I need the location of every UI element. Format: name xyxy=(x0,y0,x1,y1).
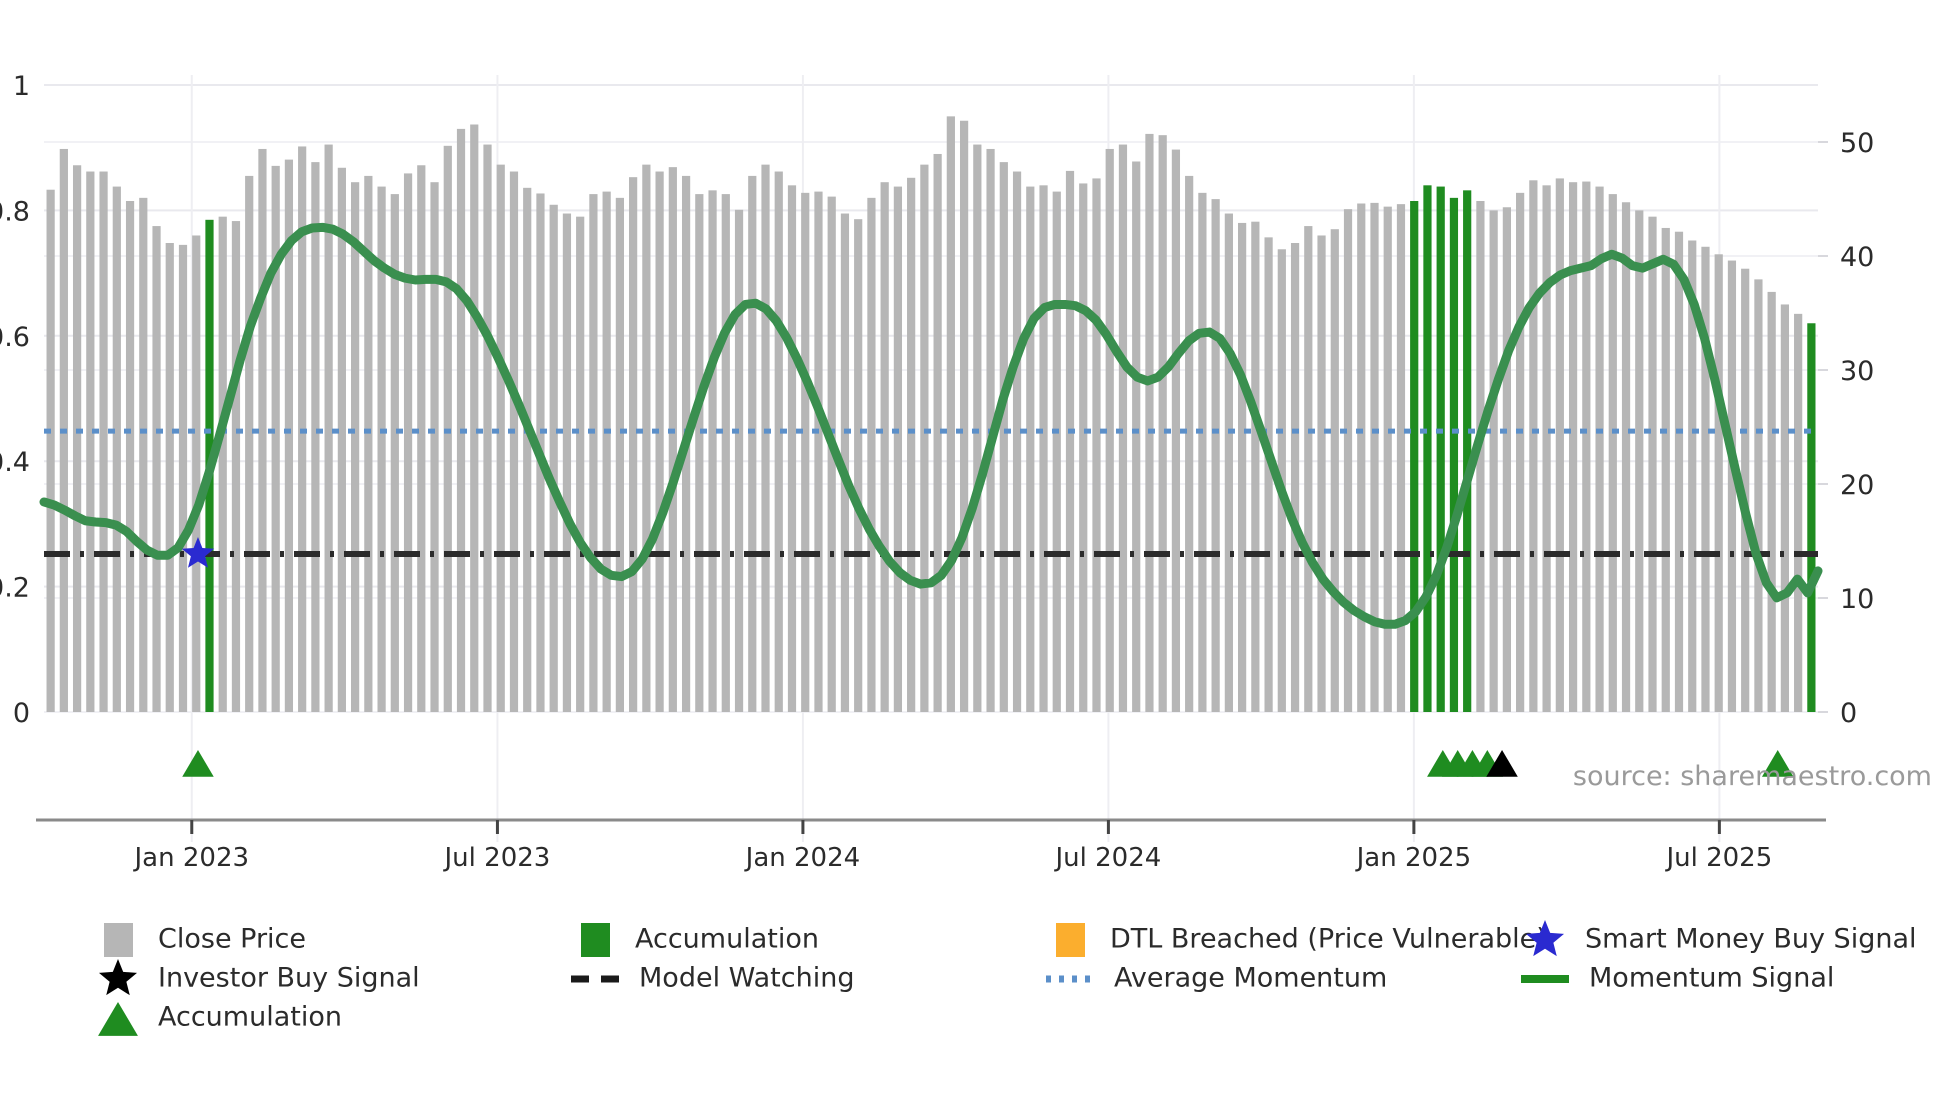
accumulation-bar xyxy=(1410,201,1418,712)
legend-item[interactable]: Model Watching xyxy=(571,963,854,994)
close-price-bar xyxy=(603,192,611,712)
y-axis-left-label: 0.6 xyxy=(0,322,30,353)
close-price-bar xyxy=(722,194,730,712)
close-price-bar xyxy=(166,243,174,712)
close-price-bar xyxy=(814,192,822,712)
close-price-bar xyxy=(1039,185,1047,712)
close-price-bar xyxy=(1132,161,1140,712)
accumulation-bar xyxy=(1450,198,1458,712)
close-price-bar xyxy=(576,217,584,712)
close-price-bar xyxy=(483,145,491,712)
close-price-bar xyxy=(801,193,809,712)
y-axis-left-label: 0.8 xyxy=(0,196,30,227)
y-axis-left-label: 1 xyxy=(13,71,30,102)
close-price-bar xyxy=(351,182,359,712)
close-price-bar xyxy=(947,116,955,712)
close-price-bar xyxy=(1357,204,1365,713)
legend-item-label: Investor Buy Signal xyxy=(158,963,420,994)
close-price-bar xyxy=(907,178,915,712)
close-price-bar xyxy=(1569,182,1577,712)
close-price-bar xyxy=(656,172,664,712)
accumulation-triangle-marker xyxy=(182,750,214,777)
close-price-bar xyxy=(1582,182,1590,712)
close-price-bar xyxy=(523,188,531,712)
close-price-bar xyxy=(735,210,743,712)
close-price-bar xyxy=(788,185,796,712)
close-price-bar xyxy=(99,172,107,712)
close-price-bar xyxy=(1662,228,1670,712)
close-price-bar xyxy=(430,182,438,712)
close-price-bar xyxy=(1556,178,1564,712)
close-price-bar xyxy=(1079,183,1087,712)
close-price-bar xyxy=(1026,187,1034,712)
legend-item[interactable]: DTL Breached (Price Vulnerable) xyxy=(1056,923,1547,957)
close-price-bar xyxy=(1304,226,1312,712)
y-axis-left-label: 0.2 xyxy=(0,573,30,604)
y-axis-right-label: 30 xyxy=(1840,356,1874,387)
close-price-bar xyxy=(1185,176,1193,712)
y-axis-right-label: 20 xyxy=(1840,470,1874,501)
y-axis-left-label: 0 xyxy=(13,698,30,729)
close-price-bar xyxy=(748,176,756,712)
close-price-bar xyxy=(1635,210,1643,712)
legend-item-label: Close Price xyxy=(158,924,306,955)
close-price-bar xyxy=(1529,180,1537,712)
close-price-bar xyxy=(311,162,319,712)
x-axis-tick-label: Jul 2024 xyxy=(1053,843,1161,873)
close-price-bar xyxy=(1225,214,1233,712)
source-attribution: source: sharemaestro.com xyxy=(1573,761,1932,792)
close-price-bar xyxy=(126,201,134,712)
close-price-bar xyxy=(1092,178,1100,712)
legend-item-label: Momentum Signal xyxy=(1589,963,1834,994)
close-price-bars-group xyxy=(47,116,1816,712)
close-price-bar xyxy=(642,165,650,712)
close-price-bar xyxy=(1013,172,1021,712)
close-price-bar xyxy=(775,172,783,712)
close-price-bar xyxy=(616,198,624,712)
accumulation-bar xyxy=(1463,190,1471,712)
y-axis-right-label: 10 xyxy=(1840,584,1874,615)
legend-square-icon xyxy=(1056,923,1085,957)
accumulation-bar xyxy=(1807,323,1815,712)
close-price-bar xyxy=(761,165,769,712)
legend-item[interactable]: Accumulation xyxy=(581,923,819,957)
x-axis-tick-label: Jul 2023 xyxy=(443,843,551,873)
legend-item[interactable]: Accumulation xyxy=(98,1002,342,1036)
close-price-bar xyxy=(86,172,94,712)
close-price-bar xyxy=(258,149,266,712)
y-axis-right-label: 0 xyxy=(1840,698,1857,729)
close-price-bar xyxy=(1344,209,1352,712)
legend-triangle-icon xyxy=(98,1002,138,1036)
close-price-bar xyxy=(960,121,968,712)
close-price-bar xyxy=(1754,279,1762,712)
close-price-bar xyxy=(1397,204,1405,712)
momentum-accumulation-chart: Jan 2023Jul 2023Jan 2024Jul 2024Jan 2025… xyxy=(0,0,1960,1102)
accumulation-bar xyxy=(1423,185,1431,712)
legend-item[interactable]: Average Momentum xyxy=(1046,963,1387,994)
close-price-bar xyxy=(338,168,346,712)
close-price-bar xyxy=(1715,254,1723,712)
close-price-bar xyxy=(1119,145,1127,712)
close-price-bar xyxy=(1198,193,1206,712)
legend-star-icon xyxy=(99,959,137,995)
close-price-bar xyxy=(192,235,200,712)
close-price-bar xyxy=(854,219,862,712)
close-price-bar xyxy=(1066,171,1074,712)
close-price-bar xyxy=(695,194,703,712)
reference-lines-group xyxy=(44,431,1818,554)
legend-item-label: Accumulation xyxy=(635,924,819,955)
close-price-bar xyxy=(272,166,280,712)
close-price-bar xyxy=(1053,192,1061,712)
close-price-bar xyxy=(708,190,716,712)
close-price-bar xyxy=(417,165,425,712)
legend-item-label: DTL Breached (Price Vulnerable) xyxy=(1110,924,1547,955)
close-price-bar xyxy=(1251,222,1259,712)
momentum-signal-line xyxy=(44,227,1818,624)
legend-item-label: Accumulation xyxy=(158,1002,342,1033)
close-price-bar xyxy=(1000,162,1008,712)
close-price-bar xyxy=(1291,243,1299,712)
legend-item[interactable]: Close Price xyxy=(104,923,306,957)
accumulation-bar xyxy=(1437,187,1445,712)
close-price-bar xyxy=(1543,185,1551,712)
close-price-bar xyxy=(232,221,240,712)
close-price-bar xyxy=(1172,150,1180,712)
legend-item-label: Model Watching xyxy=(639,963,854,994)
close-price-bar xyxy=(1622,202,1630,712)
close-price-bar xyxy=(894,187,902,712)
close-price-bar xyxy=(1238,223,1246,712)
close-price-bar xyxy=(1503,207,1511,712)
close-price-bar xyxy=(1781,304,1789,712)
momentum-line-group xyxy=(44,227,1818,624)
legend-item-label: Average Momentum xyxy=(1114,963,1387,994)
legend-square-icon xyxy=(104,923,133,957)
close-price-bar xyxy=(1384,207,1392,712)
legend-item-label: Smart Money Buy Signal xyxy=(1585,924,1917,955)
legend-item[interactable]: Smart Money Buy Signal xyxy=(1526,920,1917,956)
close-price-bar xyxy=(245,176,253,712)
close-price-bar xyxy=(152,226,160,712)
x-axis-tick-label: Jan 2023 xyxy=(133,843,250,873)
gridlines-group xyxy=(44,75,1818,842)
x-axis-tick-label: Jan 2025 xyxy=(1355,843,1472,873)
close-price-bar xyxy=(1794,314,1802,712)
legend-item[interactable]: Investor Buy Signal xyxy=(99,959,420,995)
close-price-bar xyxy=(563,214,571,712)
close-price-bar xyxy=(1331,229,1339,712)
legend-item[interactable]: Momentum Signal xyxy=(1521,963,1834,994)
close-price-bar xyxy=(179,245,187,712)
close-price-bar xyxy=(1609,194,1617,712)
close-price-bar xyxy=(881,182,889,712)
close-price-bar xyxy=(47,190,55,712)
chart-svg-canvas: Jan 2023Jul 2023Jan 2024Jul 2024Jan 2025… xyxy=(0,0,1960,1102)
close-price-bar xyxy=(219,217,227,712)
close-price-bar xyxy=(1648,217,1656,712)
close-price-bar xyxy=(1317,235,1325,712)
close-price-bar xyxy=(550,205,558,712)
close-price-bar xyxy=(1516,193,1524,712)
close-price-bar xyxy=(1490,210,1498,712)
close-price-bar xyxy=(457,129,465,712)
close-price-bar xyxy=(867,198,875,712)
close-price-bar xyxy=(920,165,928,712)
close-price-bar xyxy=(1768,292,1776,712)
legend-group: Close PriceAccumulationDTL Breached (Pri… xyxy=(98,920,1916,1036)
close-price-bar xyxy=(973,145,981,712)
legend-square-icon xyxy=(581,923,610,957)
y-axis-right-label: 40 xyxy=(1840,242,1874,273)
close-price-bar xyxy=(1675,232,1683,712)
y-axis-right-label: 50 xyxy=(1840,128,1874,159)
y-axis-left-label: 0.4 xyxy=(0,447,30,478)
close-price-bar xyxy=(669,167,677,712)
close-price-bar xyxy=(1145,134,1153,712)
x-axis-tick-label: Jan 2024 xyxy=(744,843,861,873)
close-price-bar xyxy=(589,194,597,712)
close-price-bar xyxy=(73,165,81,712)
close-price-bar xyxy=(139,198,147,712)
close-price-bar xyxy=(1212,199,1220,712)
close-price-bar xyxy=(1370,203,1378,712)
close-price-bar xyxy=(497,165,505,712)
close-price-bar xyxy=(629,177,637,712)
close-price-bar xyxy=(510,172,518,712)
x-axis-tick-label: Jul 2025 xyxy=(1664,843,1772,873)
close-price-bar xyxy=(1159,135,1167,712)
close-price-bar xyxy=(113,187,121,712)
close-price-bar xyxy=(470,125,478,713)
close-price-bar xyxy=(404,173,412,712)
